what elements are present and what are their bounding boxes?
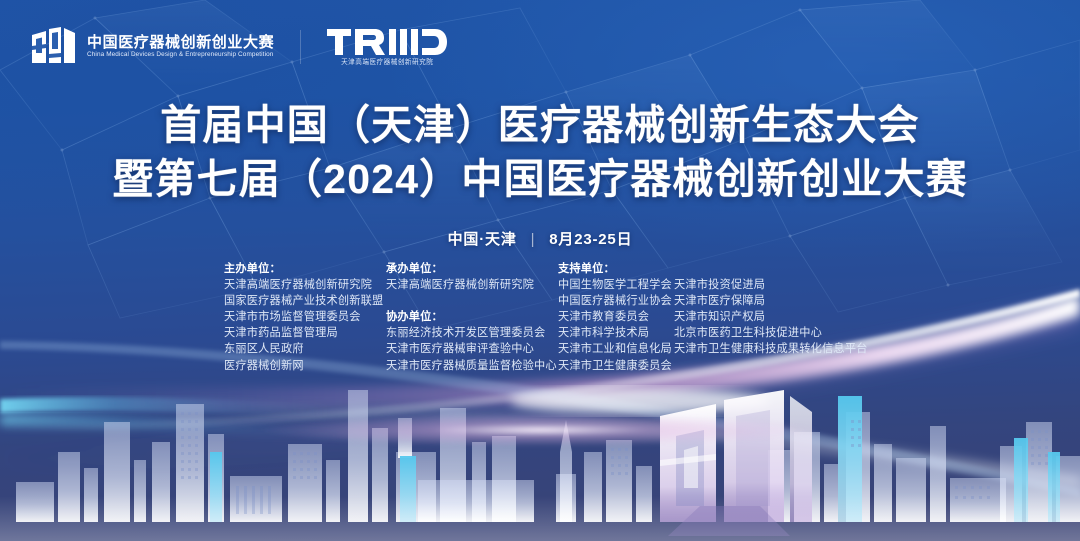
subtitle-separator: | (531, 231, 536, 248)
organizer-spacer (386, 293, 558, 309)
poster-titles: 首届中国（天津）医疗器械创新生态大会 暨第七届（2024）中国医疗器械创新创业大… (0, 98, 1080, 206)
event-date: 8月23-25日 (549, 231, 632, 248)
support-column: 支持单位： 中国生物医学工程学会 中国医疗器械行业协会 天津市教育委员会 天津市… (558, 261, 868, 374)
support-heading: 支持单位： (558, 261, 868, 277)
support-right-list: 天津市投资促进局 天津市医疗保障局 天津市知识产权局 北京市医药卫生科技促进中心… (674, 277, 868, 374)
event-location: 中国·天津 (448, 231, 517, 248)
support-item: 中国生物医学工程学会 (558, 277, 674, 293)
logo-divider (300, 30, 301, 64)
support-item: 天津市卫生健康科技成果转化信息平台 (674, 341, 868, 357)
poster-header: 中国医疗器械创新创业大赛 China Medical Devices Desig… (30, 27, 447, 67)
support-item: 天津市教育委员会 (558, 309, 674, 325)
host-item: 天津高端医疗器械创新研究院 (224, 277, 386, 293)
event-location-date: 中国·天津 | 8月23-25日 (0, 228, 1080, 249)
triid-wordmark-icon (327, 27, 447, 57)
support-item: 天津市科学技术局 (558, 325, 674, 341)
support-item: 天津市医疗保障局 (674, 293, 868, 309)
host-item: 天津市药品监督管理局 (224, 325, 386, 341)
coorganizer-heading: 协办单位： (386, 309, 558, 325)
support-item: 北京市医药卫生科技促进中心 (674, 325, 868, 341)
support-item: 天津市投资促进局 (674, 277, 868, 293)
support-item: 天津市知识产权局 (674, 309, 868, 325)
competition-logo-en-name: China Medical Devices Design & Entrepren… (87, 52, 274, 58)
city-skyline-graphic (0, 356, 1080, 541)
host-item: 国家医疗器械产业技术创新联盟 (224, 293, 386, 309)
support-left-list: 中国生物医学工程学会 中国医疗器械行业协会 天津市教育委员会 天津市科学技术局 … (558, 277, 674, 374)
institute-logo: 天津高端医疗器械创新研究院 (327, 27, 447, 67)
organizer-item: 天津高端医疗器械创新研究院 (386, 277, 558, 293)
host-column: 主办单位： 天津高端医疗器械创新研究院 国家医疗器械产业技术创新联盟 天津市市场… (224, 261, 386, 374)
title-line-2: 暨第七届（2024）中国医疗器械创新创业大赛 (0, 152, 1080, 206)
organizer-column: 承办单位： 天津高端医疗器械创新研究院 协办单位： 东丽经济技术开发区管理委员会… (386, 261, 558, 374)
host-item: 医疗器械创新网 (224, 358, 386, 374)
open-door-book-logo-icon (30, 27, 77, 67)
competition-logo-cn-name: 中国医疗器械创新创业大赛 (87, 35, 274, 50)
support-item: 中国医疗器械行业协会 (558, 293, 674, 309)
host-item: 东丽区人民政府 (224, 341, 386, 357)
organizers-block: 主办单位： 天津高端医疗器械创新研究院 国家医疗器械产业技术创新联盟 天津市市场… (224, 261, 868, 374)
coorganizer-item: 天津市医疗器械质量监督检验中心 (386, 358, 558, 374)
competition-logo: 中国医疗器械创新创业大赛 China Medical Devices Desig… (30, 27, 274, 67)
host-heading: 主办单位： (224, 261, 386, 277)
institute-logo-cn-name: 天津高端医疗器械创新研究院 (341, 60, 433, 67)
coorganizer-item: 东丽经济技术开发区管理委员会 (386, 325, 558, 341)
support-item: 天津市卫生健康委员会 (558, 358, 674, 374)
coorganizer-item: 天津市医疗器械审评查验中心 (386, 341, 558, 357)
conference-poster: 中国医疗器械创新创业大赛 China Medical Devices Desig… (0, 0, 1080, 541)
organizer-heading: 承办单位： (386, 261, 558, 277)
title-line-1: 首届中国（天津）医疗器械创新生态大会 (0, 98, 1080, 152)
host-item: 天津市市场监督管理委员会 (224, 309, 386, 325)
support-item: 天津市工业和信息化局 (558, 341, 674, 357)
